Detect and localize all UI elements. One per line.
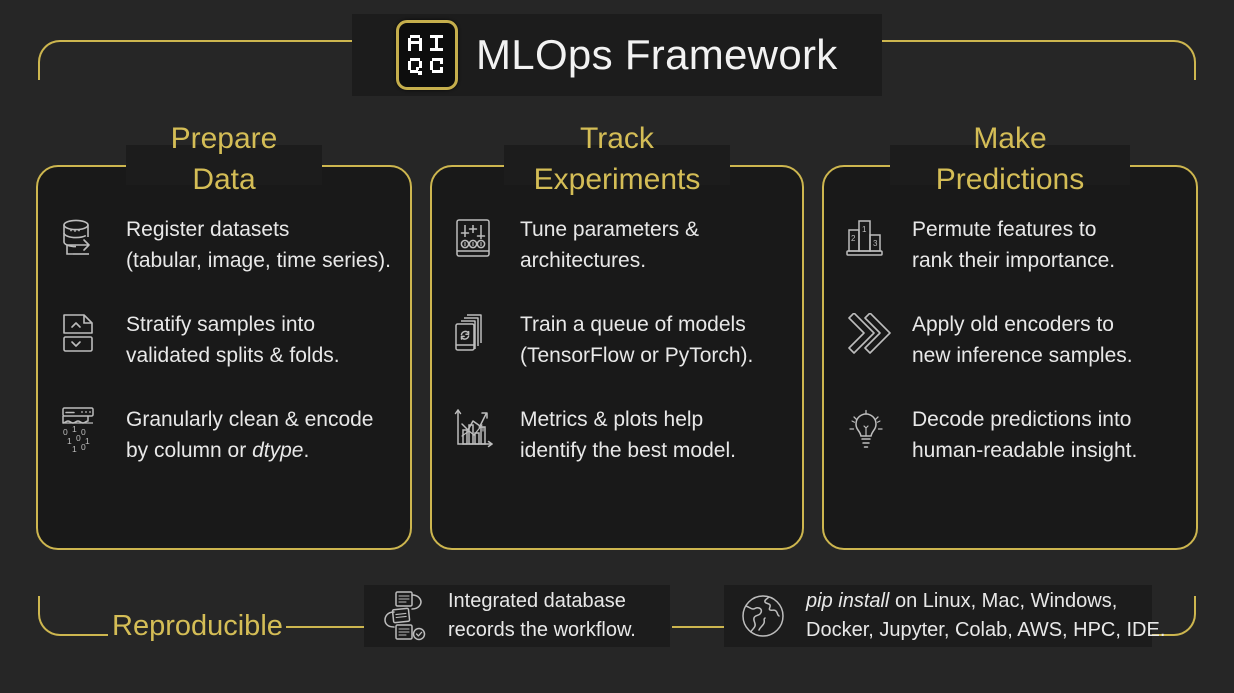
sliders-tune-icon (452, 213, 500, 265)
svg-text:1: 1 (85, 436, 90, 446)
list-item-line2: human-readable insight. (912, 435, 1137, 466)
column-prepare-data: Prepare Data (36, 118, 412, 550)
podium-ranking-icon: 1 2 3 (844, 213, 892, 265)
workflow-records-icon (378, 588, 432, 644)
title-mask-prepare-data (126, 145, 322, 185)
title-mask-make-predictions (890, 145, 1130, 185)
list-item: Train a queue of models (TensorFlow or P… (452, 308, 784, 371)
footer-item-line1: pip install on Linux, Mac, Windows, (806, 587, 1165, 616)
line2-prefix: by column or (126, 439, 252, 462)
list-item-text: Train a queue of models (TensorFlow or P… (520, 308, 753, 371)
list-item: Metrics & plots help identify the best m… (452, 403, 784, 466)
list-item-line2: architectures. (520, 245, 699, 276)
list-item-line1: Permute features to (912, 214, 1115, 245)
list-item-line1: Train a queue of models (520, 309, 753, 340)
list-item: Decode predictions into human-readable i… (844, 403, 1178, 466)
list-item-line2: (tabular, image, time series). (126, 245, 391, 276)
list-item-line2: (TensorFlow or PyTorch). (520, 340, 753, 371)
globe-icon (736, 588, 790, 644)
footer-rail-left (38, 596, 108, 636)
split-folds-icon (58, 308, 106, 360)
list-item-line1: Tune parameters & (520, 214, 699, 245)
list-item-text: Apply old encoders to new inference samp… (912, 308, 1133, 371)
footer-divider-2 (672, 626, 724, 628)
list-item: Apply old encoders to new inference samp… (844, 308, 1178, 371)
footer-label-reproducible: Reproducible (112, 606, 283, 646)
list-item-text: Stratify samples into validated splits &… (126, 308, 340, 371)
columns-container: Prepare Data (0, 118, 1234, 550)
header-center: MLOps Framework (352, 14, 882, 96)
list-item-text: Register datasets (tabular, image, time … (126, 213, 391, 276)
list-item-line1: Granularly clean & encode (126, 404, 373, 435)
footer-item-line1: Integrated database (448, 587, 636, 616)
lightbulb-icon (844, 403, 892, 455)
list-item: Tune parameters & architectures. (452, 213, 784, 276)
list-item-text: Granularly clean & encode by column or d… (126, 403, 373, 466)
column-make-predictions: Make Predictions 1 2 (822, 118, 1198, 550)
footer-item-install: pip install on Linux, Mac, Windows, Dock… (736, 585, 1165, 647)
list-item-line2: by column or dtype. (126, 435, 373, 466)
list-item-text: Tune parameters & architectures. (520, 213, 699, 276)
footer-item-text: Integrated database records the workflow… (448, 587, 636, 645)
items-make-predictions: 1 2 3 Permute features to rank their imp… (822, 165, 1198, 550)
svg-text:1: 1 (72, 444, 77, 453)
list-item: 0 1 0 1 0 1 1 0 Granularly (58, 403, 392, 466)
list-item-line1: Metrics & plots help (520, 404, 736, 435)
footer-item-database: Integrated database records the workflow… (378, 585, 636, 647)
aiqc-logo (396, 20, 458, 90)
footer-item-text: pip install on Linux, Mac, Windows, Dock… (806, 587, 1165, 645)
column-track-experiments: Track Experiments (430, 118, 804, 550)
list-item-line1: Stratify samples into (126, 309, 340, 340)
footer-item-line2: records the workflow. (448, 616, 636, 645)
items-prepare-data: Register datasets (tabular, image, time … (36, 165, 412, 550)
list-item-text: Metrics & plots help identify the best m… (520, 403, 736, 466)
mlops-framework-infographic: MLOps Framework Prepare Data (0, 0, 1234, 693)
list-item-line1: Apply old encoders to (912, 309, 1133, 340)
line2-emphasis: dtype (252, 439, 303, 462)
list-item-line2: identify the best model. (520, 435, 736, 466)
list-item-text: Permute features to rank their importanc… (912, 213, 1115, 276)
svg-text:2: 2 (851, 234, 856, 243)
footer: Reproducible In (0, 568, 1234, 693)
footer-line1-suffix: on Linux, Mac, Windows, (889, 590, 1117, 612)
list-item: 1 2 3 Permute features to rank their imp… (844, 213, 1178, 276)
footer-line1-emphasis: pip install (806, 590, 889, 612)
binary-encode-icon: 0 1 0 1 0 1 1 0 (58, 403, 106, 455)
list-item-line1: Decode predictions into (912, 404, 1137, 435)
svg-text:3: 3 (873, 239, 878, 248)
header-rail-right (881, 40, 1196, 80)
items-track-experiments: Tune parameters & architectures. (430, 165, 804, 550)
list-item-line2: rank their importance. (912, 245, 1115, 276)
header-rail-left (38, 40, 353, 80)
line2-suffix: . (303, 439, 309, 462)
footer-divider-1 (286, 626, 364, 628)
metrics-chart-icon (452, 403, 500, 455)
svg-text:1: 1 (862, 225, 867, 234)
header: MLOps Framework (0, 0, 1234, 108)
list-item-text: Decode predictions into human-readable i… (912, 403, 1137, 466)
double-chevron-icon (844, 308, 892, 360)
title-mask-track-experiments (504, 145, 730, 185)
svg-text:0: 0 (81, 442, 86, 452)
list-item-line1: Register datasets (126, 214, 391, 245)
model-queue-refresh-icon (452, 308, 500, 360)
list-item: Register datasets (tabular, image, time … (58, 213, 392, 276)
footer-item-line2: Docker, Jupyter, Colab, AWS, HPC, IDE. (806, 616, 1165, 645)
list-item-line2: new inference samples. (912, 340, 1133, 371)
page-title: MLOps Framework (476, 31, 838, 79)
database-export-icon (58, 213, 106, 265)
list-item-line2: validated splits & folds. (126, 340, 340, 371)
list-item: Stratify samples into validated splits &… (58, 308, 392, 371)
